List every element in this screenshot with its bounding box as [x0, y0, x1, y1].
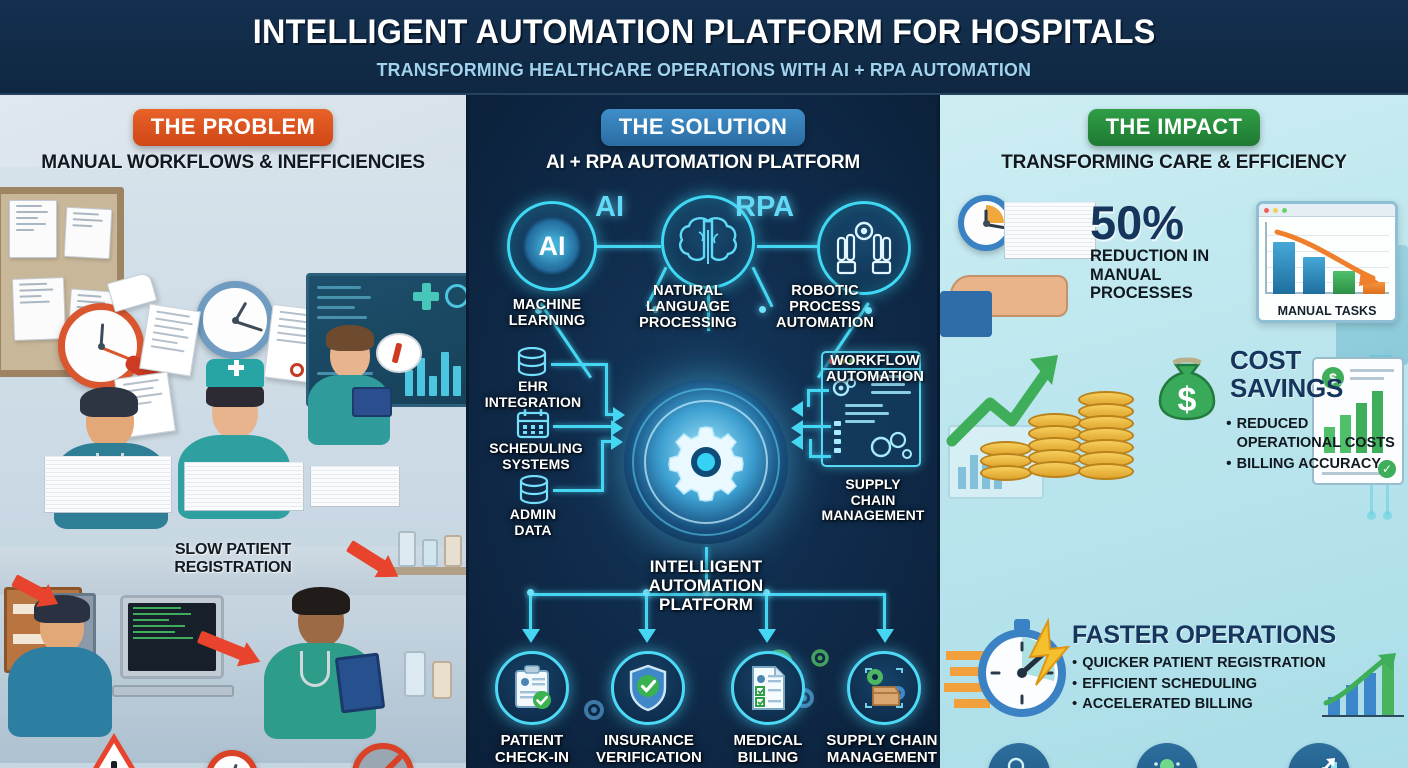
speech-bubble: [376, 333, 422, 373]
shield-check-icon[interactable]: [611, 651, 685, 725]
problem-illustration: [0, 95, 466, 768]
connector-wire: [757, 245, 823, 248]
page-subtitle: TRANSFORMING HEALTHCARE OPERATIONS WITH …: [377, 59, 1031, 81]
medical-billing-label: MEDICAL BILLING: [705, 733, 831, 767]
database-icon: [513, 347, 551, 377]
brain-glyph: [677, 216, 739, 268]
package-gears-icon[interactable]: [847, 651, 921, 725]
bullet-dot: •: [1226, 455, 1232, 474]
staff-wellbeing-icon[interactable]: [988, 743, 1050, 768]
trend-arrow-up-icon: [946, 345, 1064, 453]
cost-savings-block: COST SAVINGS: [1230, 347, 1408, 401]
stamp-mark: [290, 363, 304, 377]
growth-chart-icon[interactable]: [1288, 743, 1350, 768]
problem-badge: THE PROBLEM: [133, 109, 334, 146]
bullet-line: BILLING ACCURACY: [1237, 455, 1381, 474]
panel-solution: THE SOLUTION AI + RPA AUTOMATION PLATFOR…: [466, 95, 940, 768]
stopwatch-icon: [944, 611, 1074, 729]
chart-titlebar: [1259, 204, 1395, 217]
ai-neural-icon[interactable]: AI: [507, 201, 597, 291]
money-bag-icon: $: [1148, 351, 1226, 429]
medicine-bottle: [432, 661, 452, 699]
keyboard: [112, 685, 234, 697]
paper-stack: [184, 463, 304, 511]
chart-plot: [1265, 222, 1389, 294]
bullet-line: ACCELERATED BILLING: [1082, 695, 1253, 714]
sleeve: [940, 291, 992, 337]
machine-learning-label: MACHINE LEARNING: [477, 297, 617, 329]
clipboard-check-icon[interactable]: [495, 651, 569, 725]
flow-arrow: [611, 434, 623, 450]
faster-ops-title: FASTER OPERATIONS: [1072, 623, 1402, 648]
paper-stack: [310, 467, 400, 507]
manual-tasks-chart[interactable]: MANUAL TASKS: [1256, 201, 1398, 323]
gear-icon: [663, 419, 749, 505]
supply-chain-output-label: SUPPLY CHAIN MANAGEMENT: [821, 733, 940, 767]
flow-arrow: [758, 629, 776, 643]
automation-hub[interactable]: [624, 380, 788, 544]
rpa-label: ROBOTIC PROCESS AUTOMATION: [755, 283, 895, 332]
rpa-tag: RPA: [735, 191, 794, 224]
hub-label: INTELLIGENT AUTOMATION PLATFORM: [593, 557, 819, 614]
flow-arrow: [876, 629, 894, 643]
admin-data-label: ADMIN DATA: [469, 507, 597, 538]
bullet-line: EFFICIENT SCHEDULING: [1082, 675, 1257, 694]
flying-paper: [139, 303, 201, 376]
supply-chain-input-label: SUPPLY CHAIN MANAGEMENT: [809, 477, 937, 524]
clipboard: [335, 653, 385, 714]
connector-wire: [593, 245, 661, 248]
impact-badge: THE IMPACT: [1088, 109, 1261, 146]
panel-impact: THE IMPACT TRANSFORMING CARE & EFFICIENC…: [940, 95, 1408, 768]
bullet-line: OPERATIONAL COSTS: [1237, 434, 1395, 453]
panel-problem: THE PROBLEM MANUAL WORKFLOWS & INEFFICIE…: [0, 95, 466, 768]
ai-tag: AI: [595, 191, 624, 224]
stat-line3: PROCESSES: [1090, 284, 1260, 302]
infographic-poster: INTELLIGENT AUTOMATION PLATFORM FOR HOSP…: [0, 0, 1408, 768]
flow-arrow: [522, 629, 540, 643]
problem-subtitle: MANUAL WORKFLOWS & INEFFICIENCIES: [0, 152, 466, 174]
pinned-note: [12, 277, 66, 341]
solution-header: THE SOLUTION AI + RPA AUTOMATION PLATFOR…: [469, 95, 937, 174]
cost-savings-title-line1: COST: [1230, 347, 1408, 373]
solution-badge: THE SOLUTION: [601, 109, 806, 146]
bullet-line: QUICKER PATIENT REGISTRATION: [1082, 654, 1325, 673]
stat-line2: MANUAL: [1090, 266, 1260, 284]
gear-icon: [807, 645, 833, 671]
medicine-bottle: [404, 651, 426, 697]
bullet-dot: •: [1226, 415, 1232, 452]
bullet-line: REDUCED: [1237, 415, 1395, 434]
impact-stat: 50% REDUCTION IN MANUAL PROCESSES: [1090, 201, 1260, 303]
faster-operations-block: FASTER OPERATIONS • QUICKER PATIENT REGI…: [1072, 623, 1402, 714]
wall-clock-blue: [196, 281, 274, 359]
page-title: INTELLIGENT AUTOMATION PLATFORM FOR HOSP…: [253, 13, 1156, 52]
flow-arrow: [791, 401, 803, 417]
paper-stack: [44, 457, 172, 513]
flow-arrow: [638, 629, 656, 643]
flow-arrow: [791, 434, 803, 450]
slow-registration-label: SLOW PATIENT REGISTRATION: [0, 541, 466, 577]
robot-hands-icon[interactable]: [817, 201, 911, 295]
bullet-dot: •: [1072, 654, 1077, 673]
impact-header: THE IMPACT TRANSFORMING CARE & EFFICIENC…: [940, 95, 1408, 174]
insurance-verification-label: INSURANCE VERIFICATION: [579, 733, 719, 767]
database-icon: [515, 475, 553, 505]
pinned-note: [64, 207, 113, 259]
problem-header: THE PROBLEM MANUAL WORKFLOWS & INEFFICIE…: [0, 95, 466, 174]
bullet-dot: •: [1072, 675, 1077, 694]
nlp-label: NATURAL LANGUAGE PROCESSING: [613, 283, 763, 332]
workflow-automation-label: WORKFLOW AUTOMATION: [807, 353, 940, 385]
bullet-dot: •: [1072, 695, 1077, 714]
paper-stack-icon: [1004, 203, 1096, 259]
trend-arrow-down-icon: [1265, 224, 1395, 294]
patient-checkin-label: PATIENT CHECK-IN: [469, 733, 595, 767]
svg-text:$: $: [1178, 381, 1197, 419]
ehr-integration-label: EHR INTEGRATION: [469, 379, 597, 410]
robot-hands-glyph: [832, 220, 896, 276]
impact-subtitle: TRANSFORMING CARE & EFFICIENCY: [940, 152, 1408, 174]
stat-value: 50%: [1090, 201, 1260, 244]
gear-icon: [579, 695, 609, 725]
scheduling-systems-label: SCHEDULING SYSTEMS: [469, 441, 603, 472]
calendar-icon: [515, 407, 551, 439]
stat-line1: REDUCTION IN: [1090, 247, 1260, 265]
cost-savings-bullets: • REDUCED OPERATIONAL COSTS • BILLING AC…: [1226, 415, 1408, 474]
panels-container: THE PROBLEM MANUAL WORKFLOWS & INEFFICIE…: [0, 95, 1408, 768]
poster-header: INTELLIGENT AUTOMATION PLATFORM FOR HOSP…: [0, 0, 1408, 95]
caring-hands-icon[interactable]: [1136, 743, 1198, 768]
pinned-note: [9, 200, 57, 258]
solution-subtitle: AI + RPA AUTOMATION PLATFORM: [469, 152, 937, 174]
cost-savings-title-line2: SAVINGS: [1230, 375, 1408, 401]
chart-label: MANUAL TASKS: [1259, 304, 1395, 318]
document-check-icon[interactable]: [731, 651, 805, 725]
